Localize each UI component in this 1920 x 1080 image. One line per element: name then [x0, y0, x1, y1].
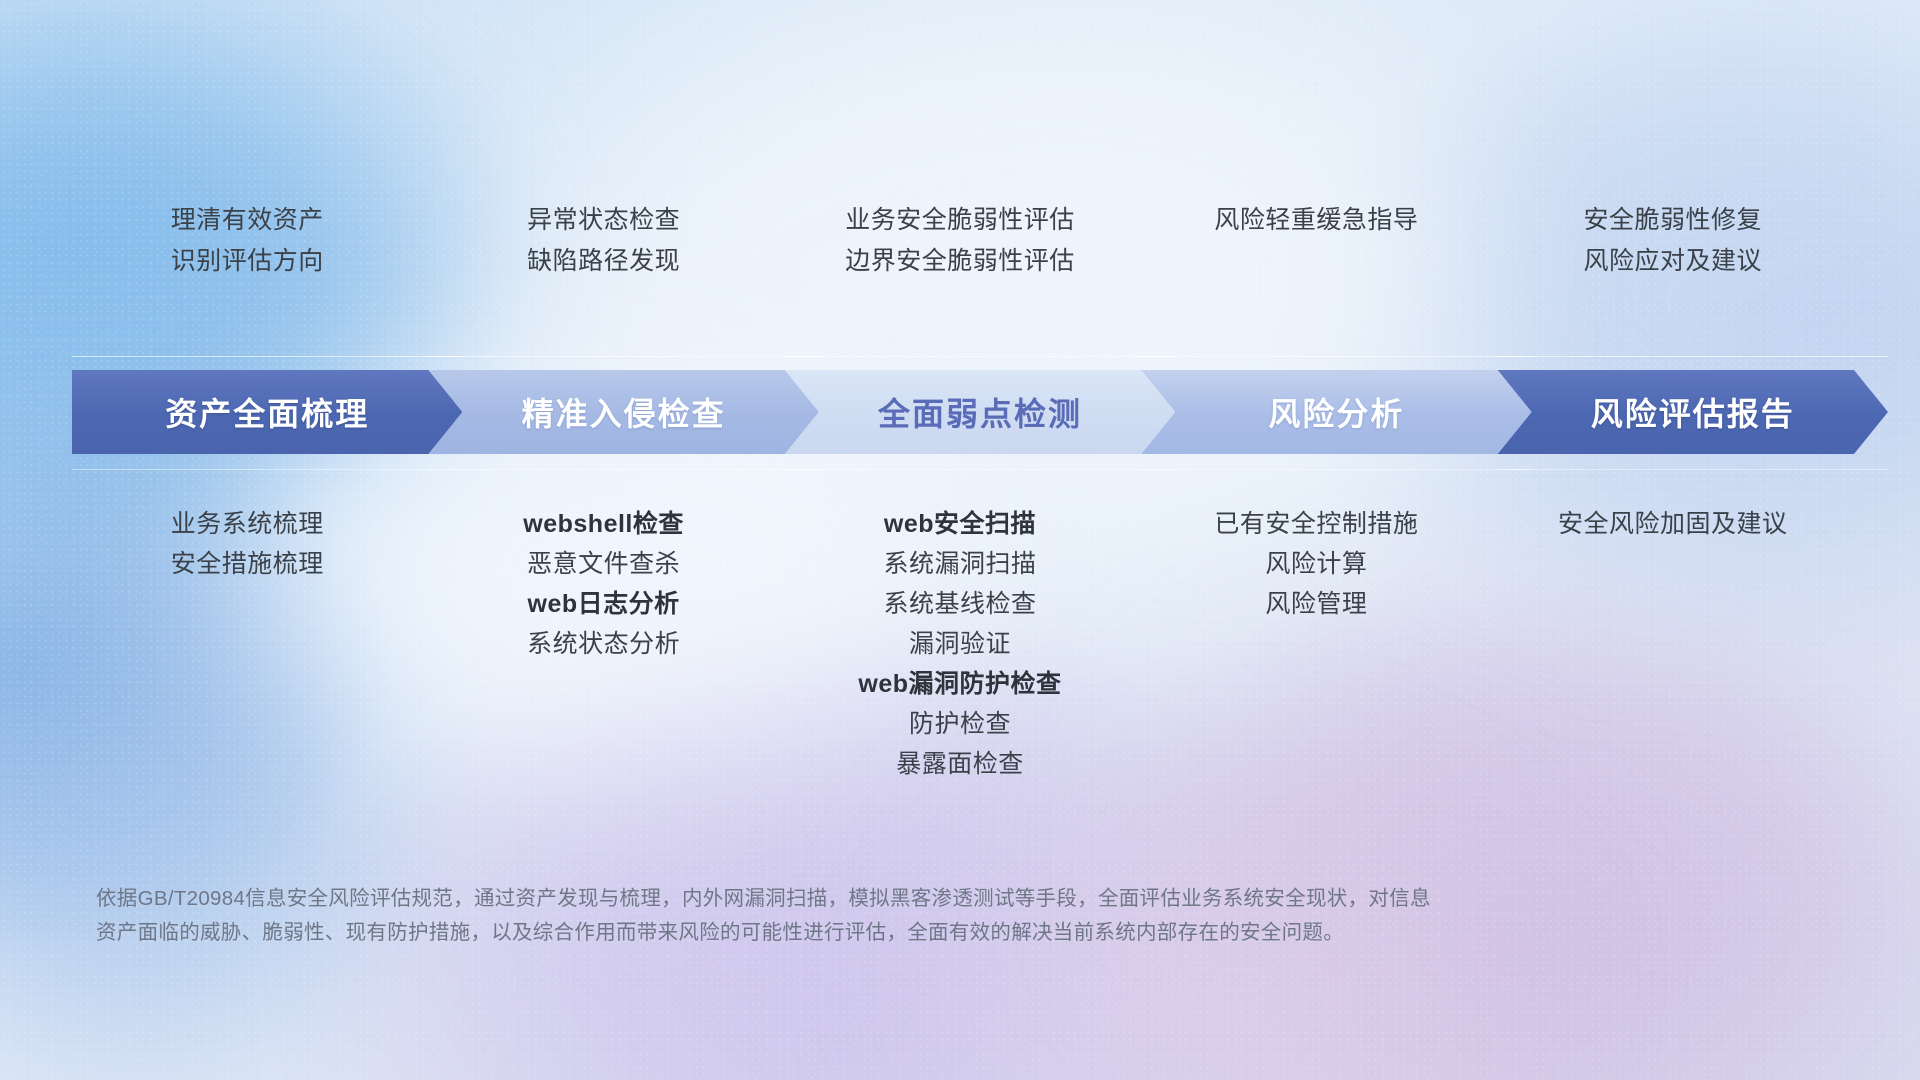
process-stage-3[interactable]: 全面弱点检测 — [785, 370, 1175, 454]
stage-title: 资产全面梳理 — [165, 389, 369, 435]
activity-item: 安全风险加固及建议 — [1498, 504, 1848, 544]
activity-item: 安全措施梳理 — [72, 544, 422, 584]
activity-item: web安全扫描 — [785, 504, 1135, 544]
activity-item: web日志分析 — [428, 584, 778, 624]
activity-item: 业务系统梳理 — [72, 504, 422, 544]
stage-title: 精准入侵检查 — [522, 389, 726, 435]
footer-line-2: 资产面临的威胁、脆弱性、现有防护措施，以及综合作用而带来风险的可能性进行评估，全… — [96, 916, 1616, 950]
activity-item: 风险管理 — [1141, 584, 1491, 624]
activity-item: 恶意文件查杀 — [428, 544, 778, 584]
process-chevron-band: 资产全面梳理精准入侵检查全面弱点检测风险分析风险评估报告 — [72, 370, 1848, 454]
process-stage-1[interactable]: 资产全面梳理 — [72, 370, 462, 454]
activity-item: 系统状态分析 — [428, 624, 778, 664]
stage-title: 全面弱点检测 — [878, 389, 1082, 435]
activity-item: 漏洞验证 — [785, 624, 1135, 664]
footer-description: 依据GB/T20984信息安全风险评估规范，通过资产发现与梳理，内外网漏洞扫描，… — [96, 882, 1616, 950]
stage-title: 风险评估报告 — [1591, 389, 1795, 435]
process-stage-4[interactable]: 风险分析 — [1141, 370, 1531, 454]
activity-item: webshell检查 — [428, 504, 778, 544]
activity-item: 系统基线检查 — [785, 584, 1135, 624]
activity-item: 系统漏洞扫描 — [785, 544, 1135, 584]
process-stage-2[interactable]: 精准入侵检查 — [428, 370, 818, 454]
footer-line-1: 依据GB/T20984信息安全风险评估规范，通过资产发现与梳理，内外网漏洞扫描，… — [96, 882, 1616, 916]
activity-item: 防护检查 — [785, 704, 1135, 744]
activity-item: 暴露面检查 — [785, 744, 1135, 784]
activity-item: 已有安全控制措施 — [1141, 504, 1491, 544]
slide-canvas: 理清有效资产识别评估方向异常状态检查缺陷路径发现业务安全脆弱性评估边界安全脆弱性… — [0, 0, 1920, 1080]
activity-item: web漏洞防护检查 — [785, 664, 1135, 704]
process-stage-5[interactable]: 风险评估报告 — [1498, 370, 1888, 454]
activity-item: 风险计算 — [1141, 544, 1491, 584]
stage-title: 风险分析 — [1268, 389, 1404, 435]
